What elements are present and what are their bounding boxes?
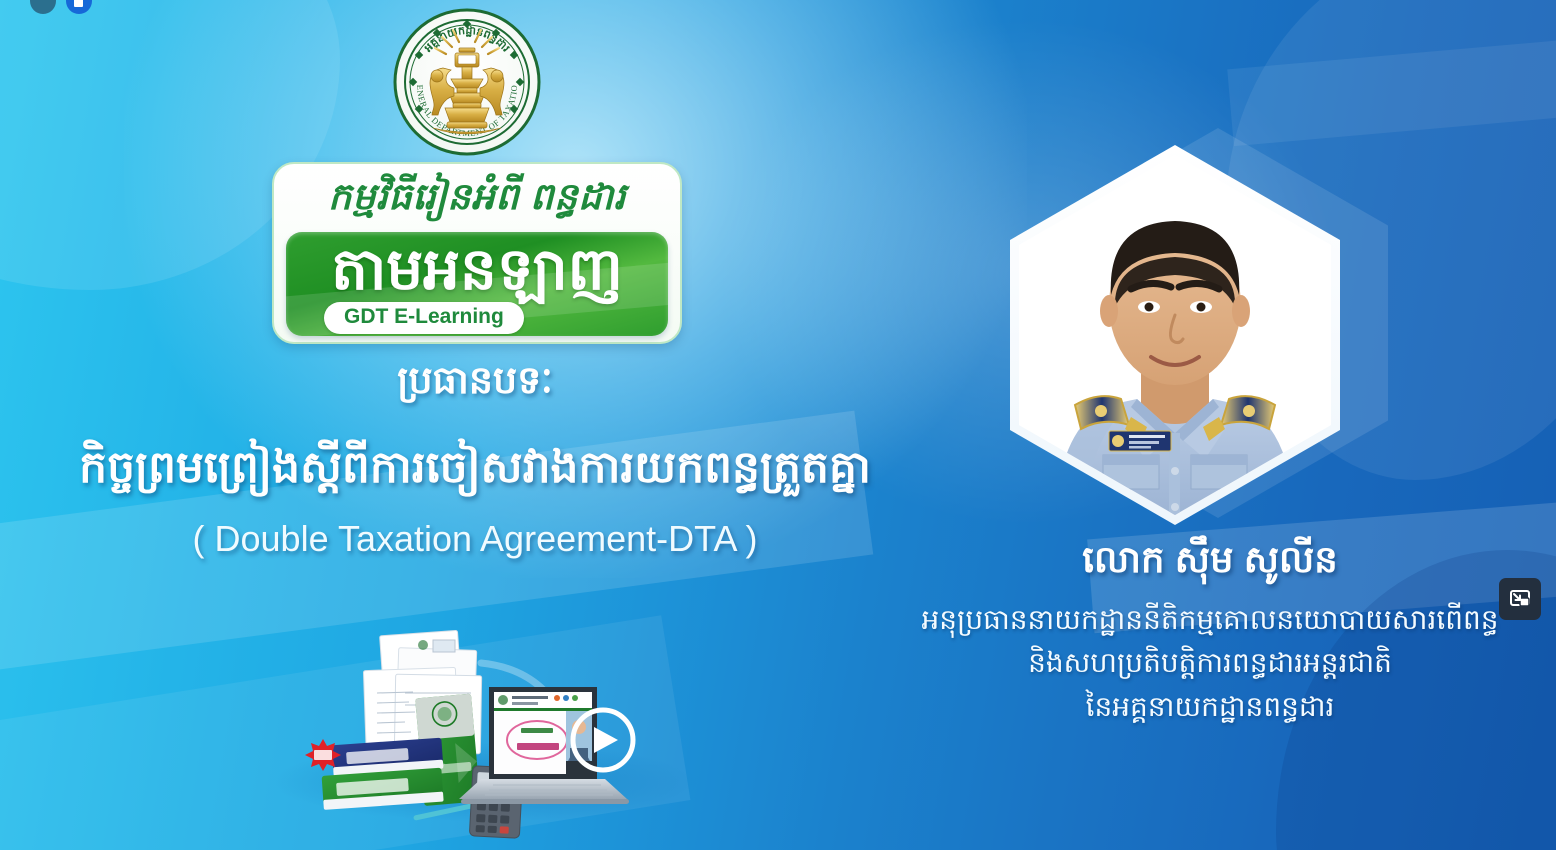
picture-in-picture-button[interactable] [1499,578,1541,620]
gdt-emblem-icon: អគ្គនាយកដ្ឋានពន្ធដារ GENERAL DEPARTMENT … [393,8,541,156]
left-content-column: អគ្គនាយកដ្ឋានពន្ធដារ GENERAL DEPARTMENT … [0,0,950,850]
speaker-role-line-2: និងសហប្រតិបត្តិការពន្ធដារអន្តរជាតិ [900,641,1520,684]
speaker-avatar [1019,155,1331,515]
right-speaker-column: លោក ស៊ឹម សូលីន អនុប្រធាននាយកដ្ឋាននីតិកម្… [900,0,1556,850]
speaker-role: អនុប្រធាននាយកដ្ឋាននីតិកម្មគោលនយោបាយសារពើ… [900,598,1520,728]
speaker-role-line-3: នៃអគ្គនាយកដ្ឋានពន្ធដារ [900,685,1520,728]
topic-label: ប្រធានបទៈ [0,356,950,407]
speaker-role-line-1: អនុប្រធាននាយកដ្ឋាននីតិកម្មគោលនយោបាយសារពើ… [900,598,1520,641]
picture-in-picture-icon [1508,587,1532,611]
topic-title-english: ( Double Taxation Agreement-DTA ) [0,515,950,564]
topic-title-khmer: កិច្ចព្រមព្រៀងស្តីពីការចៀសវាងការយកពន្ធត្… [0,438,950,497]
slide-root: អគ្គនាយកដ្ឋានពន្ធដារ GENERAL DEPARTMENT … [0,0,1556,850]
gdt-elearning-logo: កម្មវិធីរៀនអំពី ពន្ធដារ តាមអនឡាញ GDT E-L… [272,162,682,344]
logo-headline-khmer: កម្មវិធីរៀនអំពី ពន្ធដារ [274,172,680,222]
logo-subhead-khmer: តាមអនឡាញ [286,232,668,312]
speaker-name: លោក ស៊ឹម សូលីន [900,534,1520,586]
learning-materials-illustration [285,615,665,840]
logo-badge-label: GDT E-Learning [324,302,524,334]
